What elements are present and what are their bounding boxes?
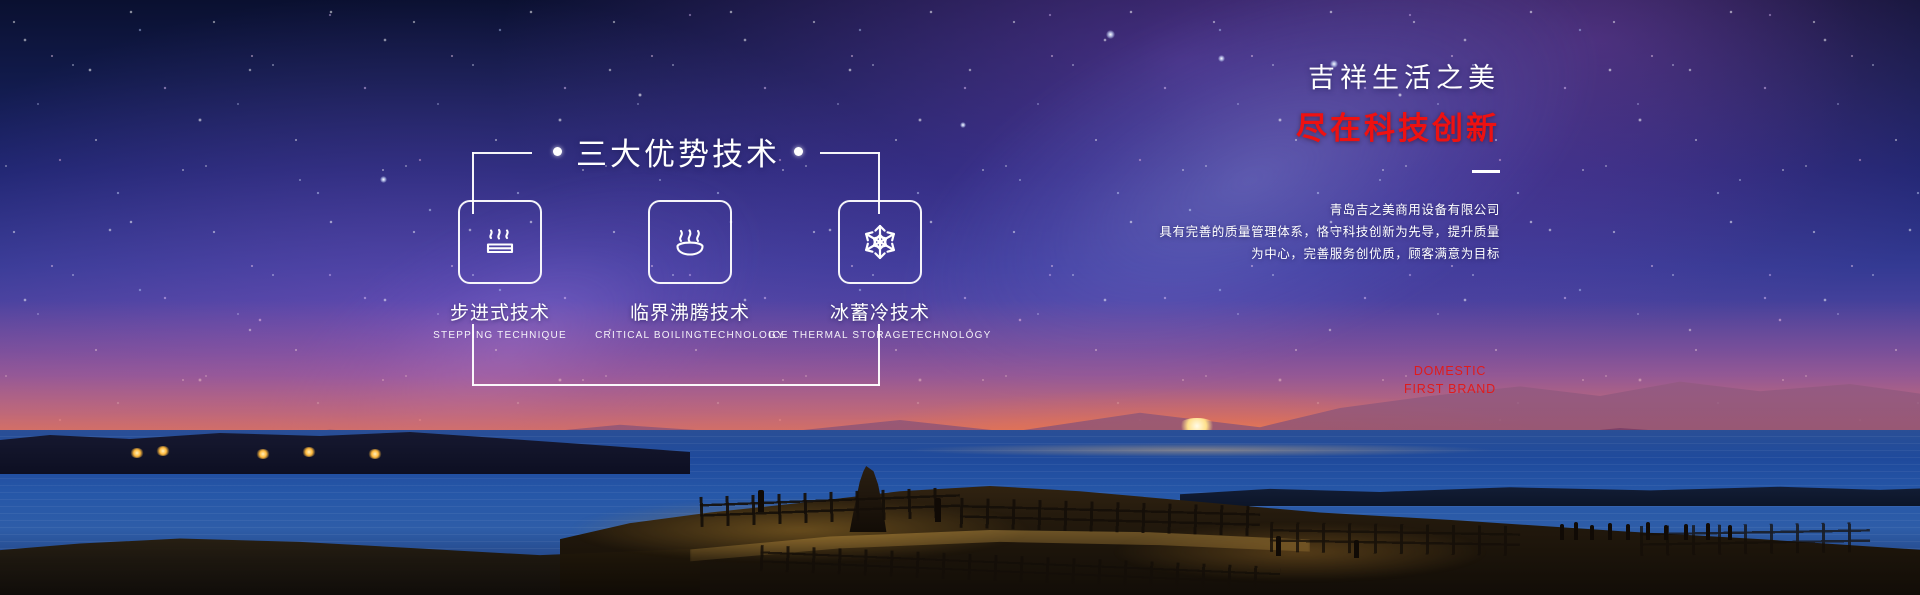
frame-left-lower-segment [472, 324, 474, 386]
shore-lamp [130, 448, 144, 458]
frame-right-upper-segment [878, 152, 880, 214]
frame-top-left-segment [472, 152, 532, 154]
shore-lamp [302, 447, 316, 457]
frame-left-upper-segment [472, 152, 474, 214]
brand-message-block: 吉祥生活之美 尽在科技创新 青岛吉之美商用设备有限公司 具有完善的质量管理体系，… [1020, 56, 1500, 265]
wooden-fence [1270, 522, 1520, 556]
frame-bottom-segment [472, 384, 880, 386]
advantage-card-subtitle: STEPPING TECHNIQUE [433, 330, 567, 341]
bright-star [960, 122, 966, 128]
advantage-card-boiling[interactable]: 临界沸腾技术 CRITICAL BOILINGTECHNOLOGY [610, 200, 770, 350]
boiling-pot-icon [648, 200, 732, 284]
brand-tagline: DOMESTIC FIRST BRAND [1340, 362, 1560, 398]
brand-tagline-line-1: DOMESTIC [1340, 362, 1560, 380]
advantage-card-title: 冰蓄冷技术 [830, 298, 930, 325]
company-name: 青岛吉之美商用设备有限公司 [1020, 199, 1500, 221]
steam-tray-icon [458, 200, 542, 284]
advantages-title: 三大优势技术 [576, 129, 780, 174]
advantage-card-subtitle: ICE THERMAL STORAGETECHNOLOGY [769, 330, 992, 341]
person-silhouette [935, 498, 941, 522]
person-silhouette [758, 490, 764, 512]
advantage-card-ice-storage[interactable]: 冰蓄冷技术 ICE THERMAL STORAGETECHNOLOGY [800, 200, 960, 350]
person-silhouette [1354, 540, 1359, 558]
slogan-secondary: 尽在科技创新 [1020, 103, 1500, 148]
company-desc-line-3: 为中心，完善服务创优质，顾客满意为目标 [1020, 243, 1500, 265]
bright-star [1106, 30, 1115, 39]
crowd-silhouettes [1560, 522, 1820, 546]
frame-right-lower-segment [878, 324, 880, 386]
shore-lamp [156, 446, 170, 456]
brand-tagline-line-2: FIRST BRAND [1340, 380, 1560, 398]
advantage-card-stepping[interactable]: 步进式技术 STEPPING TECHNIQUE [420, 200, 580, 350]
slogan-primary: 吉祥生活之美 [1020, 56, 1500, 95]
title-dot-left-icon [553, 147, 562, 156]
hero-banner: 三大优势技术 步进式技术 STEPPING TECHNIQUE [0, 0, 1920, 595]
frame-top-right-segment [820, 152, 880, 154]
advantage-card-title: 临界沸腾技术 [630, 298, 750, 325]
shore-lamp [368, 449, 382, 459]
advantage-card-subtitle: CRITICAL BOILINGTECHNOLOGY [595, 330, 785, 341]
snowflake-icon [838, 200, 922, 284]
shore-lamp [256, 449, 270, 459]
company-description: 青岛吉之美商用设备有限公司 具有完善的质量管理体系，恪守科技创新为先导，提升质量… [1020, 199, 1500, 265]
company-desc-line-2: 具有完善的质量管理体系，恪守科技创新为先导，提升质量 [1020, 221, 1500, 243]
shore-lights [130, 446, 490, 462]
person-silhouette [1276, 536, 1281, 556]
bright-star [380, 176, 387, 183]
advantage-card-title: 步进式技术 [450, 298, 550, 325]
advantages-title-row: 三大优势技术 [516, 128, 840, 174]
slogan-divider [1472, 170, 1500, 173]
title-dot-right-icon [794, 147, 803, 156]
